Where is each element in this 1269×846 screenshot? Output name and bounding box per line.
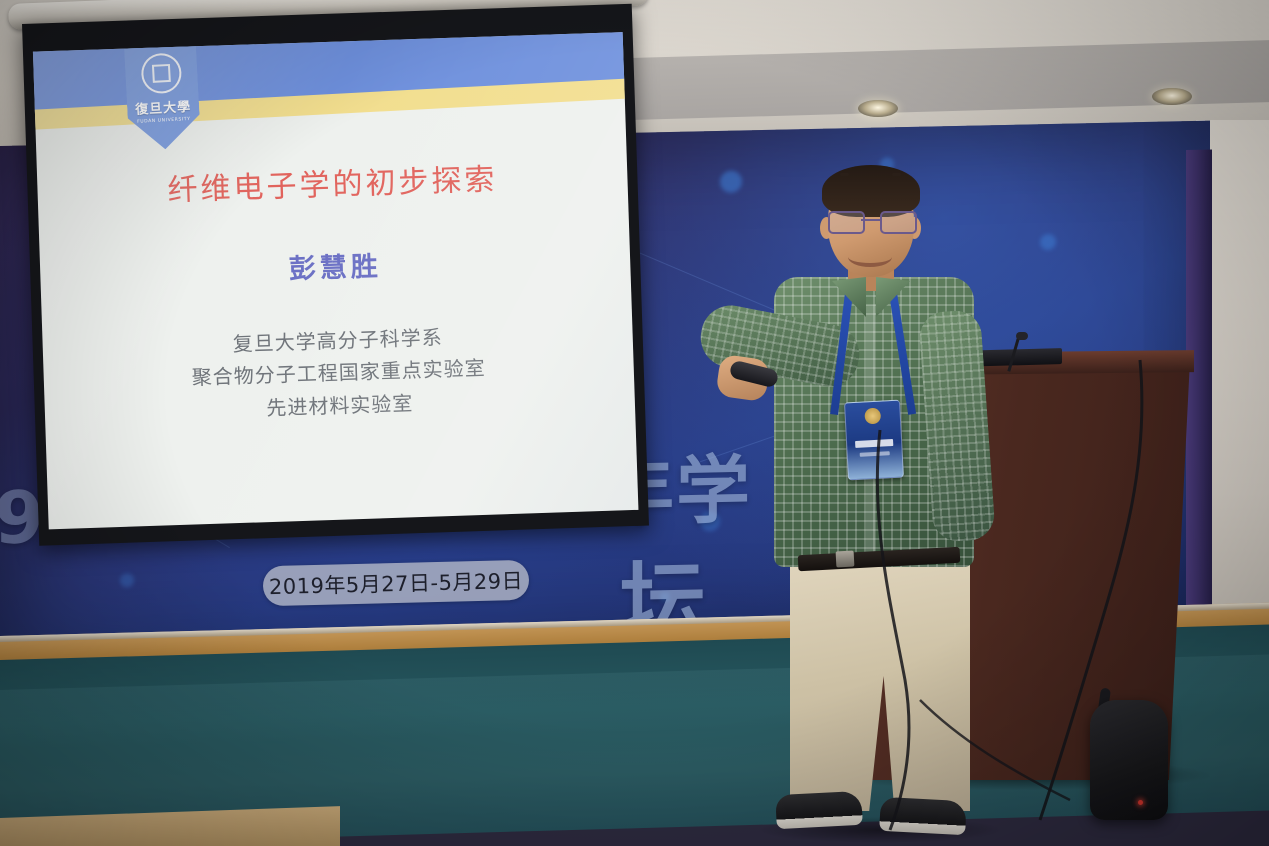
backpack: [1090, 700, 1168, 820]
device-led-indicator-icon: [1138, 800, 1143, 805]
floor-cables: [0, 0, 1269, 846]
presentation-photo-scene: 9 年学 坛 復旦大學 FUDAN UNIVERSITY 纤维电子学的初步探索 …: [0, 0, 1269, 846]
